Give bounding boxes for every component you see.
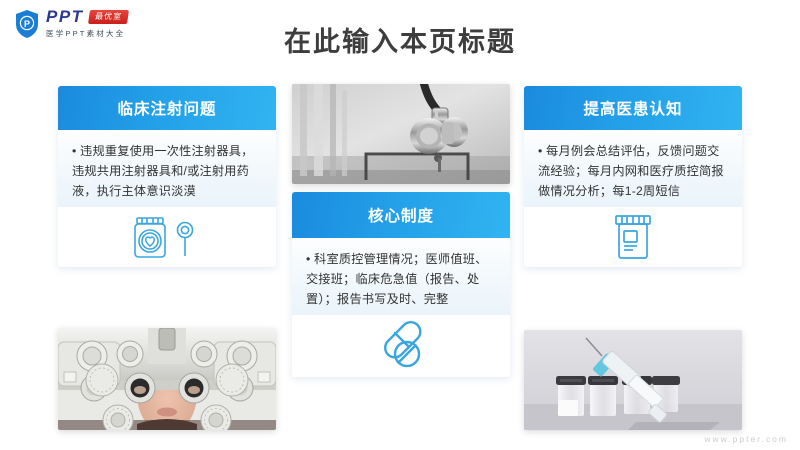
card-body-text: • 违规重复使用一次性注射器具，违规共用注射器具和/或注射用药液，执行主体意识淡… — [58, 130, 276, 207]
card-patient-awareness[interactable]: 提高医患认知 • 每月例会总结评估，反馈问题交流经验；每月内网和医疗质控简报做情… — [524, 86, 742, 267]
pills-capsule-icon — [292, 315, 510, 377]
site-watermark: www.ppter.com — [704, 434, 788, 444]
card-core-system[interactable]: 核心制度 • 科室质控管理情况；医师值班、交接班；临床危急值（报告、处置）；报告… — [292, 192, 510, 377]
page-title: 在此输入本页标题 — [0, 20, 800, 59]
card-body-text: • 每月例会总结评估，反馈问题交流经验；每月内网和医疗质控简报做情况分析；每1-… — [524, 130, 742, 207]
pill-jar-icon — [524, 207, 742, 267]
medicine-bottle-heart-icon — [58, 207, 276, 267]
card-body-text: • 科室质控管理情况；医师值班、交接班；临床危急值（报告、处置）；报告书写及时、… — [292, 238, 510, 315]
slide-canvas: P PPT 最优室 医学PPT素材大全 在此输入本页标题 — [0, 0, 800, 450]
card-clinical-injection[interactable]: 临床注射问题 • 违规重复使用一次性注射器具，违规共用注射器具和/或注射用药液，… — [58, 86, 276, 267]
card-heading: 提高医患认知 — [524, 86, 742, 130]
stethoscope-photo — [292, 84, 510, 184]
syringe-and-vials-photo — [524, 330, 742, 430]
card-heading: 临床注射问题 — [58, 86, 276, 130]
eye-exam-phoropter-photo — [58, 328, 276, 430]
card-heading: 核心制度 — [292, 192, 510, 238]
